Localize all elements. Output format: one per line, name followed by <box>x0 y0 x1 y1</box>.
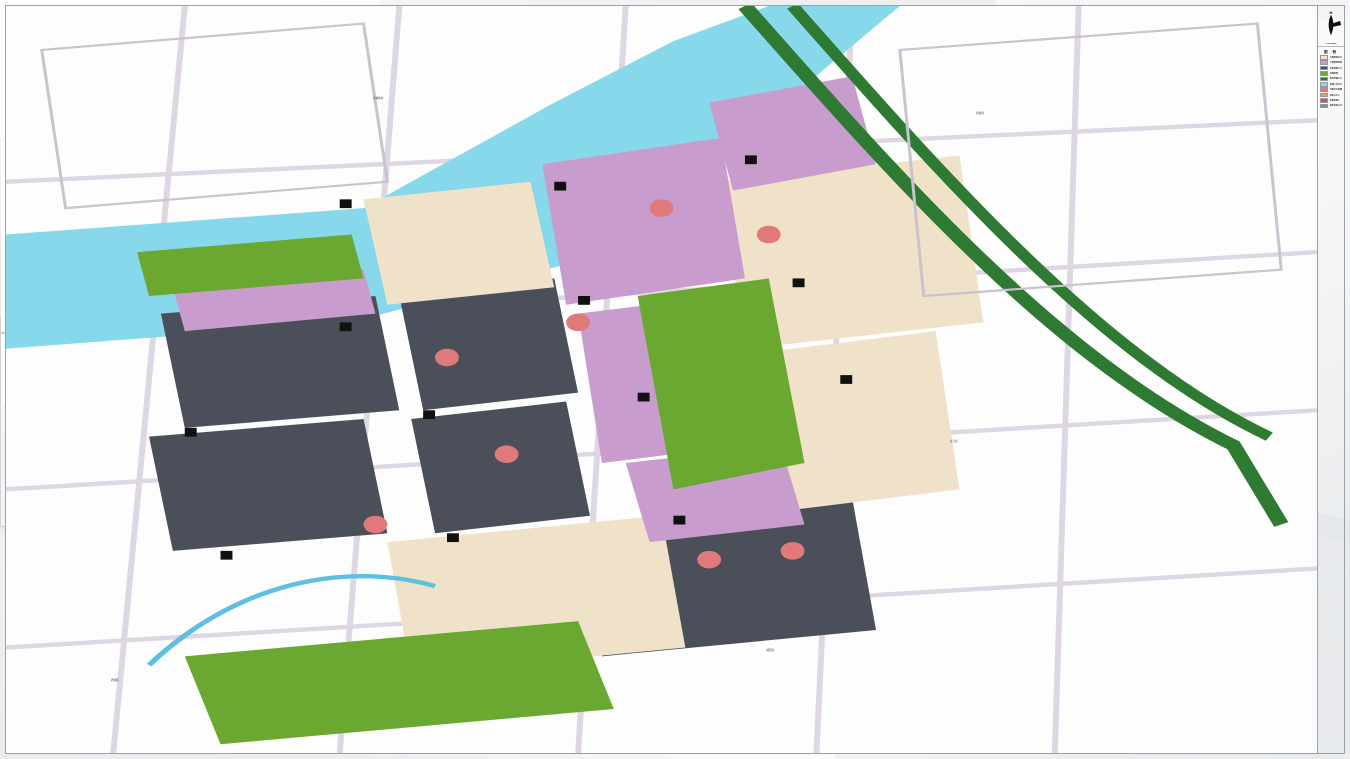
legend-swatch <box>1320 98 1328 103</box>
legend-label: 防护绿地 <box>1330 77 1338 80</box>
legend-row: 工业用地 <box>1318 66 1344 71</box>
legend-row: 商业设施点 <box>1318 93 1344 98</box>
legend-swatch <box>1320 66 1328 71</box>
legend-swatch <box>1320 77 1328 82</box>
legend-row: 二类居住用地 <box>1318 60 1344 65</box>
legend-row: 医疗卫生设施点 <box>1318 104 1344 109</box>
map-label: 龙江村 <box>950 439 958 443</box>
legend-rows: 一类居住用地二类居住用地工业用地公园绿地防护绿地水 域行政办公设施商业设施点教育… <box>1318 55 1344 108</box>
legend-swatch <box>1320 87 1328 92</box>
map-label: 北城新村 <box>373 96 383 100</box>
legend-label: 工业用地 <box>1330 67 1338 70</box>
legend-swatch <box>1320 71 1328 76</box>
legend-row: 水 域 <box>1318 82 1344 87</box>
legend-swatch <box>1320 60 1328 65</box>
legend-label: 水 域 <box>1330 83 1335 86</box>
legend-label: 行政办公设施 <box>1330 88 1342 91</box>
compass-rose-icon: N 0 250 500m <box>1318 6 1344 47</box>
thumbnail-map-town-structure[interactable]: 北城新村 新建村 龙江村 城西村 老城区 N 0 250 500m 图 例 一类… <box>0 333 260 527</box>
map-label: 老城区 <box>111 678 119 682</box>
map-label: 新建村 <box>976 111 984 115</box>
legend-row: 防护绿地 <box>1318 77 1344 82</box>
map-label: 城西村 <box>766 648 774 652</box>
legend-row: 教育设施点 <box>1318 98 1344 103</box>
legend-row: 一类居住用地 <box>1318 55 1344 60</box>
detail-map-frame: 北城新村 新建村 龙江村 城西村 老城区 N 0 250 500m 图 例 一类… <box>5 5 1345 754</box>
detail-map-canvas-structure: 北城新村 新建村 龙江村 城西村 老城区 <box>6 6 1317 753</box>
legend-label: 一类居住用地 <box>1330 56 1342 59</box>
legend-label: 公园绿地 <box>1330 72 1338 75</box>
scale-bar-label: 0 250 500m <box>1320 43 1342 45</box>
legend-label: 二类居住用地 <box>1330 61 1342 64</box>
legend-heading: 图 例 <box>1318 47 1344 55</box>
legend-label: 医疗卫生设施点 <box>1330 104 1343 107</box>
slide-canvas: 规划成果 乡镇国土空间总体规划成果包括法定文件和技术文件，以纸质文档和电子文件形… <box>0 0 1350 759</box>
legend-label: 商业设施点 <box>1330 94 1340 97</box>
compass-north-label: N <box>1330 10 1333 15</box>
legend-row: 公园绿地 <box>1318 71 1344 76</box>
detail-legend-panel: N 0 250 500m 图 例 一类居住用地二类居住用地工业用地公园绿地防护绿… <box>1317 6 1344 753</box>
legend-row: 行政办公设施 <box>1318 87 1344 92</box>
legend-swatch <box>1320 82 1328 87</box>
legend-label: 教育设施点 <box>1330 99 1340 102</box>
legend-swatch <box>1320 104 1328 109</box>
legend-swatch <box>1320 93 1328 98</box>
legend-swatch <box>1320 55 1328 60</box>
